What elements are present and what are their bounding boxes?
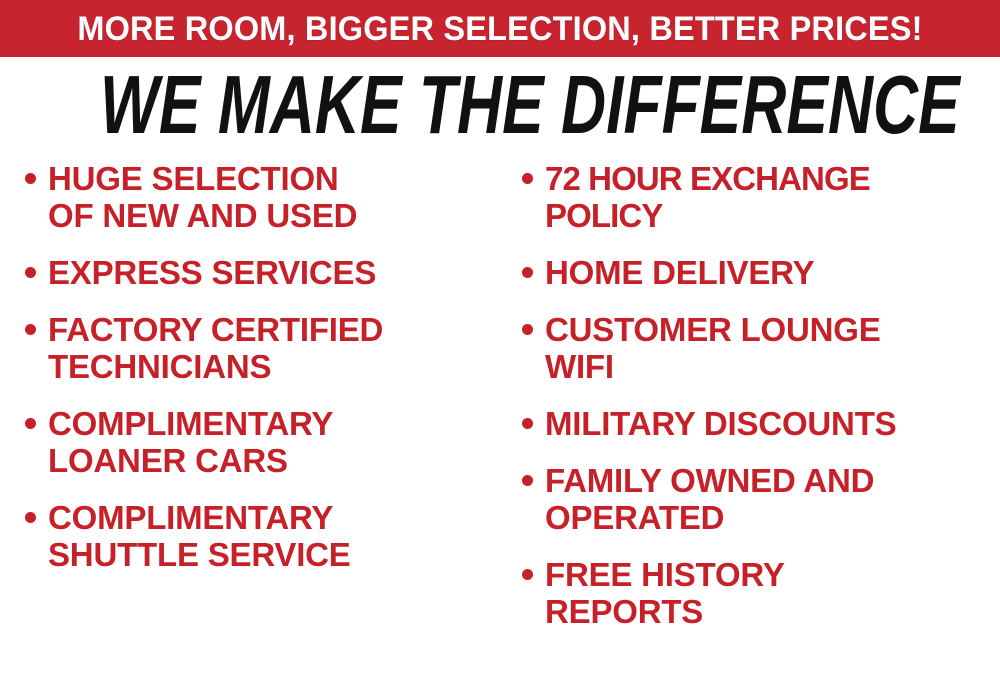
list-item-label: COMPLIMENTARY LOANER CARS bbox=[48, 405, 498, 479]
bullet-dot-icon bbox=[522, 475, 533, 486]
list-item-label: EXPRESS SERVICES bbox=[48, 254, 498, 291]
list-item: COMPLIMENTARY LOANER CARS bbox=[18, 405, 498, 479]
banner-headline-text: MORE ROOM, BIGGER SELECTION, BETTER PRIC… bbox=[23, 0, 978, 57]
bullet-dot-icon bbox=[25, 267, 36, 278]
bullet-dot-icon bbox=[25, 418, 36, 429]
promo-poster: MORE ROOM, BIGGER SELECTION, BETTER PRIC… bbox=[0, 0, 1000, 694]
bullet-dot-icon bbox=[522, 324, 533, 335]
benefits-column-left: HUGE SELECTION OF NEW AND USED EXPRESS S… bbox=[18, 160, 498, 593]
bullet-dot-icon bbox=[522, 173, 533, 184]
top-banner: MORE ROOM, BIGGER SELECTION, BETTER PRIC… bbox=[0, 0, 1000, 57]
list-item-label: FAMILY OWNED AND OPERATED bbox=[545, 462, 1000, 536]
list-item-label: FREE HISTORY REPORTS bbox=[545, 556, 1000, 630]
benefits-column-right: 72 HOUR EXCHANGE POLICY HOME DELIVERY CU… bbox=[515, 160, 1000, 650]
bullet-dot-icon bbox=[522, 569, 533, 580]
bullet-dot-icon bbox=[522, 267, 533, 278]
list-item: MILITARY DISCOUNTS bbox=[515, 405, 1000, 442]
bullet-dot-icon bbox=[522, 418, 533, 429]
list-item: 72 HOUR EXCHANGE POLICY bbox=[515, 160, 1000, 234]
list-item: HOME DELIVERY bbox=[515, 254, 1000, 291]
list-item: FAMILY OWNED AND OPERATED bbox=[515, 462, 1000, 536]
list-item-label: HOME DELIVERY bbox=[545, 254, 1000, 291]
bullet-dot-icon bbox=[25, 324, 36, 335]
bullet-dot-icon bbox=[25, 512, 36, 523]
list-item: FREE HISTORY REPORTS bbox=[515, 556, 1000, 630]
list-item: CUSTOMER LOUNGE WIFI bbox=[515, 311, 1000, 385]
list-item: EXPRESS SERVICES bbox=[18, 254, 498, 291]
list-item-label: MILITARY DISCOUNTS bbox=[545, 405, 1000, 442]
benefits-columns: HUGE SELECTION OF NEW AND USED EXPRESS S… bbox=[0, 160, 1000, 694]
list-item: HUGE SELECTION OF NEW AND USED bbox=[18, 160, 498, 234]
list-item: COMPLIMENTARY SHUTTLE SERVICE bbox=[18, 499, 498, 573]
list-item-label: 72 HOUR EXCHANGE POLICY bbox=[545, 160, 1000, 234]
list-item-label: HUGE SELECTION OF NEW AND USED bbox=[48, 160, 498, 234]
list-item: FACTORY CERTIFIED TECHNICIANS bbox=[18, 311, 498, 385]
bullet-dot-icon bbox=[25, 173, 36, 184]
list-item-label: CUSTOMER LOUNGE WIFI bbox=[545, 311, 1000, 385]
list-item-label: COMPLIMENTARY SHUTTLE SERVICE bbox=[48, 499, 498, 573]
page-title: WE MAKE THE DIFFERENCE bbox=[100, 62, 900, 147]
list-item-label: FACTORY CERTIFIED TECHNICIANS bbox=[48, 311, 498, 385]
